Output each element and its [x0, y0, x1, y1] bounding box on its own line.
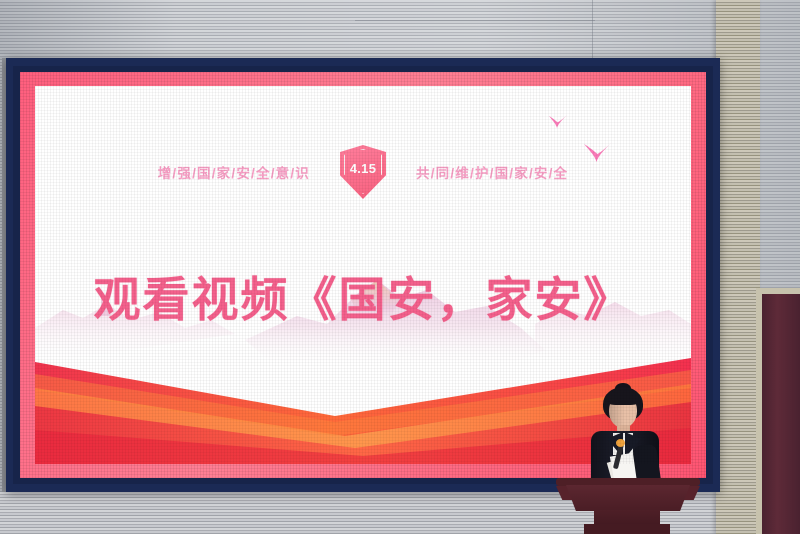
slogan-left: 增/强/国/家/安/全/意/识	[158, 162, 310, 182]
lectern-front-panel	[566, 485, 690, 511]
shield-date-label: 4.15	[340, 161, 386, 176]
bird-icon-large	[583, 141, 613, 167]
hair-fringe	[605, 390, 641, 405]
side-exit-door[interactable]	[762, 294, 800, 534]
lectern-base	[584, 524, 670, 534]
shield-icon: 4.15	[340, 145, 386, 199]
screenshot-stage: 增/强/国/家/安/全/意/识 4.15 共/同/维/护/国/家/安/全 观看视…	[0, 0, 800, 534]
slogan-right: 共/同/维/护/国/家/安/全	[416, 162, 568, 182]
wooden-lectern	[556, 478, 700, 534]
wall-seam-vertical	[592, 0, 593, 58]
lectern-top-edge	[556, 478, 700, 486]
wall-seam-horizontal	[355, 20, 595, 21]
microphone-head	[616, 439, 625, 447]
wall-pilaster	[716, 0, 760, 534]
bird-icon-small	[548, 114, 568, 132]
slide-main-title: 观看视频《国安，家安》	[35, 261, 691, 330]
